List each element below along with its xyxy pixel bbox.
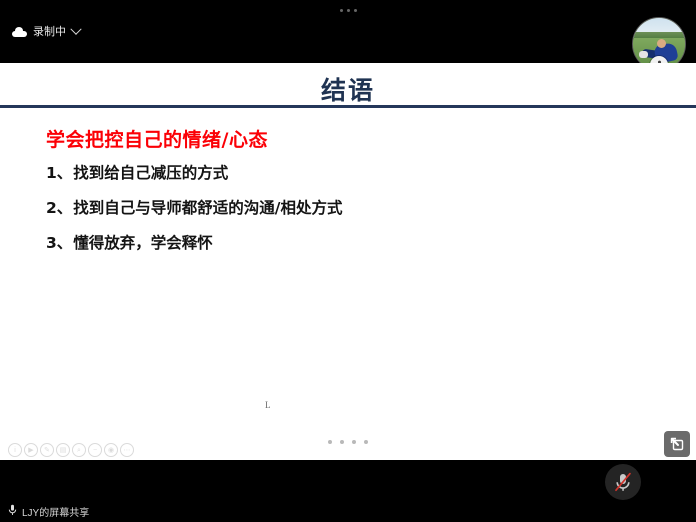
brightness-icon[interactable]: ◉: [104, 443, 118, 457]
expand-arrow-icon[interactable]: [664, 431, 690, 457]
recording-label: 录制中: [33, 23, 66, 41]
list-item: 3、 懂得放弃，学会释怀: [46, 231, 646, 253]
slide-heading: 学会把控自己的情绪/心态: [46, 125, 268, 152]
info-icon[interactable]: i: [8, 443, 22, 457]
list-item-number: 1、: [46, 161, 72, 183]
slide-bullet-list: 1、 找到给自己减压的方式 2、 找到自己与导师都舒适的沟通/相处方式 3、 懂…: [46, 161, 646, 266]
page-dot[interactable]: [352, 440, 356, 444]
play-icon[interactable]: ▶: [24, 443, 38, 457]
meeting-screen-share-window: 录制中 LJY的屏幕共享 结语 学会把控自己的情绪/心态: [0, 0, 696, 522]
avatar-photo-shoe: [639, 51, 648, 58]
list-item: 1、 找到给自己减压的方式: [46, 161, 646, 183]
drag-handle-dot: [354, 9, 357, 12]
chevron-down-icon[interactable]: [70, 24, 81, 35]
title-divider: [0, 105, 696, 108]
minus-icon[interactable]: −: [88, 443, 102, 457]
eraser-icon[interactable]: ▤: [56, 443, 70, 457]
status-bar-label: LJY的屏幕共享: [22, 504, 89, 519]
list-item-number: 3、: [46, 231, 72, 253]
recording-indicator[interactable]: 录制中: [12, 23, 80, 41]
slide-page-indicator[interactable]: [0, 440, 696, 444]
zoom-icon[interactable]: ⌕: [72, 443, 86, 457]
text-cursor-mark: L: [265, 400, 271, 410]
status-bar: LJY的屏幕共享: [0, 500, 696, 522]
drag-handle-dot: [347, 9, 350, 12]
more-icon[interactable]: ⋯: [120, 443, 134, 457]
list-item-text: 懂得放弃，学会释怀: [73, 231, 646, 253]
page-dot[interactable]: [328, 440, 332, 444]
page-dot[interactable]: [340, 440, 344, 444]
list-item-number: 2、: [46, 196, 72, 218]
microphone-muted-icon[interactable]: [605, 464, 641, 500]
slide-title: 结语: [0, 71, 696, 107]
list-item-text: 找到自己与导师都舒适的沟通/相处方式: [73, 196, 646, 218]
slide-annotation-toolbar[interactable]: i ▶ ✎ ▤ ⌕ − ◉ ⋯: [8, 443, 134, 457]
microphone-icon: [8, 504, 17, 519]
cloud-icon: [12, 28, 27, 37]
window-drag-handle[interactable]: [0, 4, 696, 16]
drag-handle-dot: [340, 9, 343, 12]
shared-slide[interactable]: 结语 学会把控自己的情绪/心态 1、 找到给自己减压的方式 2、 找到自己与导师…: [0, 63, 696, 460]
list-item-text: 找到给自己减压的方式: [73, 161, 646, 183]
list-item: 2、 找到自己与导师都舒适的沟通/相处方式: [46, 196, 646, 218]
pen-icon[interactable]: ✎: [40, 443, 54, 457]
page-dot[interactable]: [364, 440, 368, 444]
avatar-photo-head: [657, 39, 666, 48]
